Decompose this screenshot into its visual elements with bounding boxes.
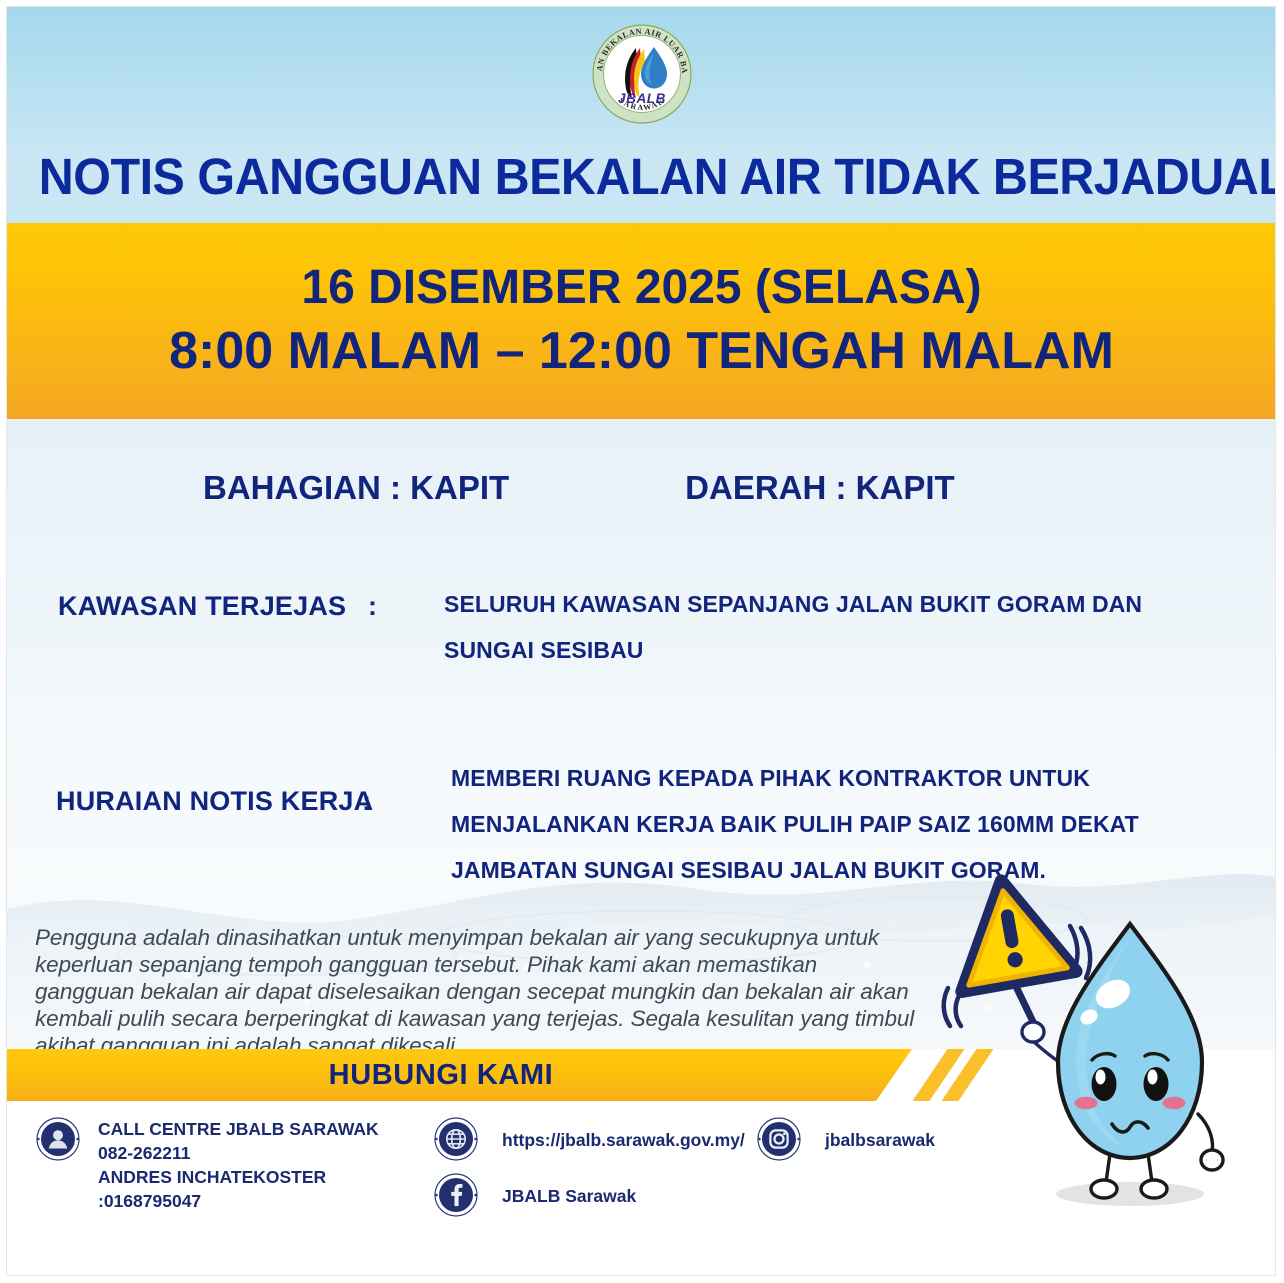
affected-area-label: KAWASAN TERJEJAS xyxy=(58,591,346,622)
advisory-paragraph: Pengguna adalah dinasihatkan untuk menyi… xyxy=(35,924,915,1049)
work-description-values: MEMBERI RUANG KEPADA PIHAK KONTRAKTOR UN… xyxy=(451,755,1151,893)
call-centre-line-1: CALL CENTRE JBALB SARAWAK xyxy=(98,1117,379,1141)
contact-banner: HUBUNGI KAMI xyxy=(7,1049,1276,1101)
globe-icon xyxy=(434,1117,478,1161)
person-icon xyxy=(36,1117,80,1161)
contact-call-centre[interactable]: CALL CENTRE JBALB SARAWAK 082-262211 AND… xyxy=(36,1117,379,1213)
affected-area-colon: : xyxy=(368,591,377,622)
affected-area-values: SELURUH KAWASAN SEPANJANG JALAN BUKIT GO… xyxy=(444,581,1144,673)
call-centre-line-3: ANDRES INCHATEKOSTER xyxy=(98,1165,379,1189)
region-row: BAHAGIAN : KAPIT DAERAH : KAPIT xyxy=(7,469,1276,507)
affected-area-line-1: SELURUH KAWASAN SEPANJANG JALAN BUKIT GO… xyxy=(444,581,1144,627)
poster-header: JABATAN BEKALAN AIR LUAR BANDAR SARAWAK … xyxy=(7,7,1276,223)
contact-website[interactable]: https://jbalb.sarawak.gov.my/ xyxy=(434,1117,745,1161)
instagram-handle: jbalbsarawak xyxy=(825,1117,935,1152)
instagram-icon xyxy=(757,1117,801,1161)
notice-date: 16 DISEMBER 2025 (SELASA) xyxy=(301,257,981,318)
call-centre-line-2: 082-262211 xyxy=(98,1141,379,1165)
jbalb-logo-icon: JABATAN BEKALAN AIR LUAR BANDAR SARAWAK … xyxy=(589,21,695,127)
website-url: https://jbalb.sarawak.gov.my/ xyxy=(502,1117,745,1152)
water-disruption-notice-poster: JABATAN BEKALAN AIR LUAR BANDAR SARAWAK … xyxy=(0,0,1284,1283)
contact-instagram[interactable]: jbalbsarawak xyxy=(757,1117,935,1161)
notice-time-range: 8:00 MALAM – 12:00 TENGAH MALAM xyxy=(169,318,1114,385)
svg-text:JBALB: JBALB xyxy=(617,91,665,106)
jbalb-logo: JABATAN BEKALAN AIR LUAR BANDAR SARAWAK … xyxy=(589,21,695,127)
work-description-line-2: MENJALANKAN KERJA BAIK PULIH PAIP SAIZ 1… xyxy=(451,801,1151,847)
work-description-line-3: JAMBATAN SUNGAI SESIBAU JALAN BUKIT GORA… xyxy=(451,847,1151,893)
affected-area-line-2: SUNGAI SESIBAU xyxy=(444,627,1144,673)
work-description-label: HURAIAN NOTIS KERJA xyxy=(56,786,373,817)
facebook-handle: JBALB Sarawak xyxy=(502,1173,636,1208)
contact-banner-title: HUBUNGI KAMI xyxy=(7,1049,875,1101)
work-description-colon: : xyxy=(362,786,371,817)
call-centre-text: CALL CENTRE JBALB SARAWAK 082-262211 AND… xyxy=(98,1117,379,1213)
contact-facebook[interactable]: JBALB Sarawak xyxy=(434,1173,636,1217)
notice-body: BAHAGIAN : KAPIT DAERAH : KAPIT KAWASAN … xyxy=(7,419,1276,1049)
date-time-banner: 16 DISEMBER 2025 (SELASA) 8:00 MALAM – 1… xyxy=(7,223,1276,419)
bahagian-label: BAHAGIAN : KAPIT xyxy=(203,469,509,507)
page-title: NOTIS GANGGUAN BEKALAN AIR TIDAK BERJADU… xyxy=(39,147,1245,206)
contact-details: CALL CENTRE JBALB SARAWAK 082-262211 AND… xyxy=(7,1105,1276,1265)
work-description-line-1: MEMBERI RUANG KEPADA PIHAK KONTRAKTOR UN… xyxy=(451,755,1151,801)
daerah-label: DAERAH : KAPIT xyxy=(685,469,955,507)
facebook-icon xyxy=(434,1173,478,1217)
call-centre-line-4: :0168795047 xyxy=(98,1189,379,1213)
